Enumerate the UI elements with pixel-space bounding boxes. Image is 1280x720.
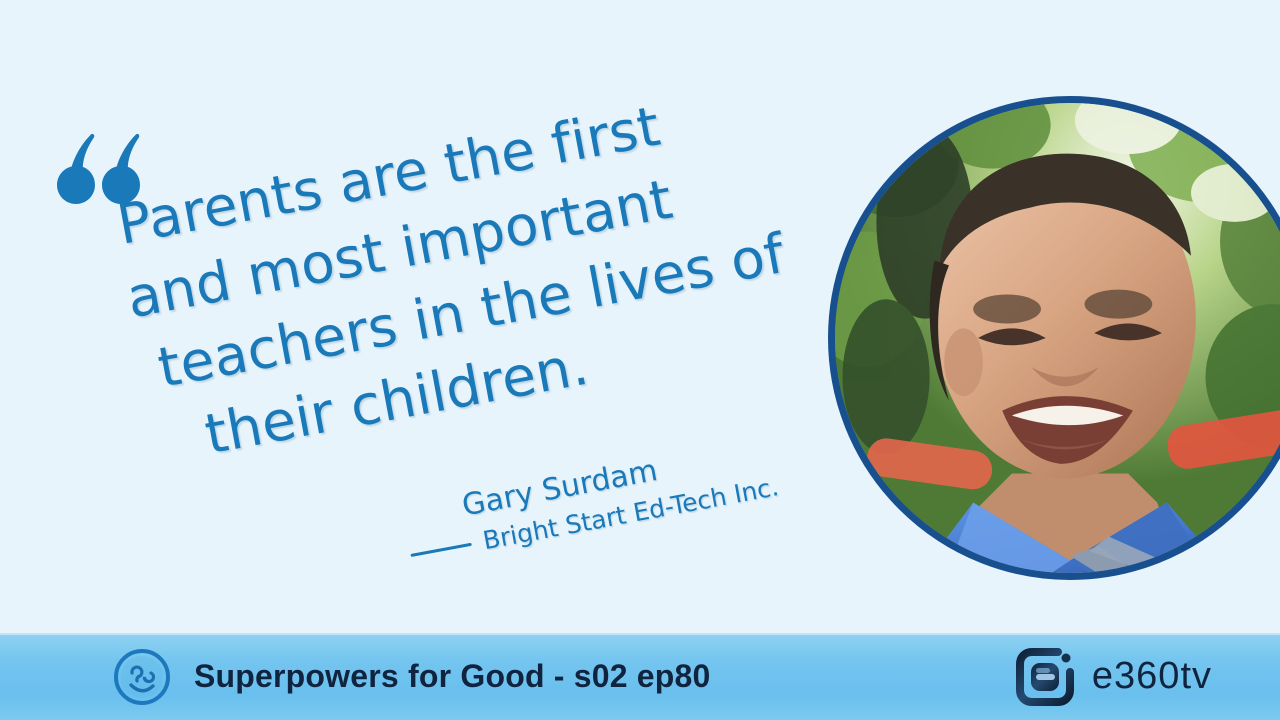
attribution-rule [410,542,472,556]
network-brand: e360tv [1014,646,1212,708]
quote-card: Parents are the first and most important… [0,0,1280,720]
show-title: Superpowers for Good - s02 ep80 [194,658,711,695]
portrait-image [828,96,1280,580]
network-name: e360tv [1092,655,1212,698]
guest-portrait [828,96,1280,580]
quote-text: Parents are the first and most important… [74,52,905,487]
e360tv-mark-icon [1014,646,1076,708]
smiley-face-icon [112,647,172,707]
show-brand: Superpowers for Good - s02 ep80 [112,647,711,707]
bottom-banner: Superpowers for Good - s02 ep80 e360tv [0,633,1280,720]
attribution: Gary Surdam Bright Start Ed-Tech Inc. [400,430,782,573]
